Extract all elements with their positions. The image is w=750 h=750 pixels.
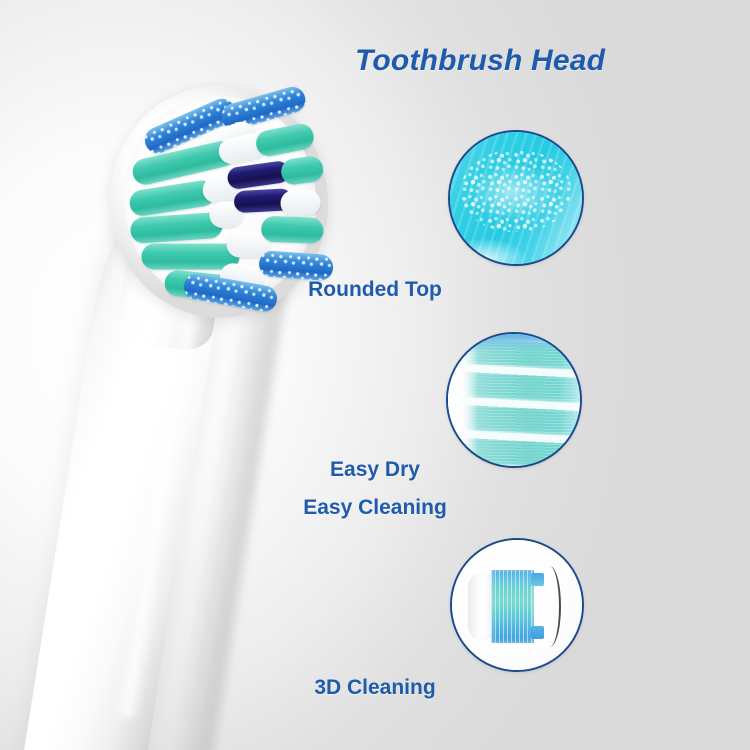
foam-texture [461,150,572,232]
feature-caption-rounded-top: Rounded Top [0,278,750,302]
feature-caption-easy-dry: Easy Dry [0,458,750,482]
bristle-row [254,122,316,159]
bristle-row [258,250,334,281]
bristle-left-edge [446,332,478,468]
feature-image-easy-dry [446,332,582,468]
curve-outline [538,566,561,647]
bristle-row [280,155,325,187]
feature-caption-easy-cleaning: Easy Cleaning [0,496,750,520]
bristle-row [280,189,321,217]
toothbrush-product-image [0,0,430,750]
feature-image-3d-cleaning [450,538,584,672]
product-infographic: Toothbrush Head Rounded Top Easy Dry Eas… [0,0,750,750]
bristle-top-band [464,332,582,351]
feature-caption-3d-cleaning: 3D Cleaning [0,676,750,700]
page-title: Toothbrush Head [355,44,725,78]
bristle-tuft-block [491,570,534,643]
bristle-row [261,216,324,244]
feature-image-rounded-top [448,130,584,266]
